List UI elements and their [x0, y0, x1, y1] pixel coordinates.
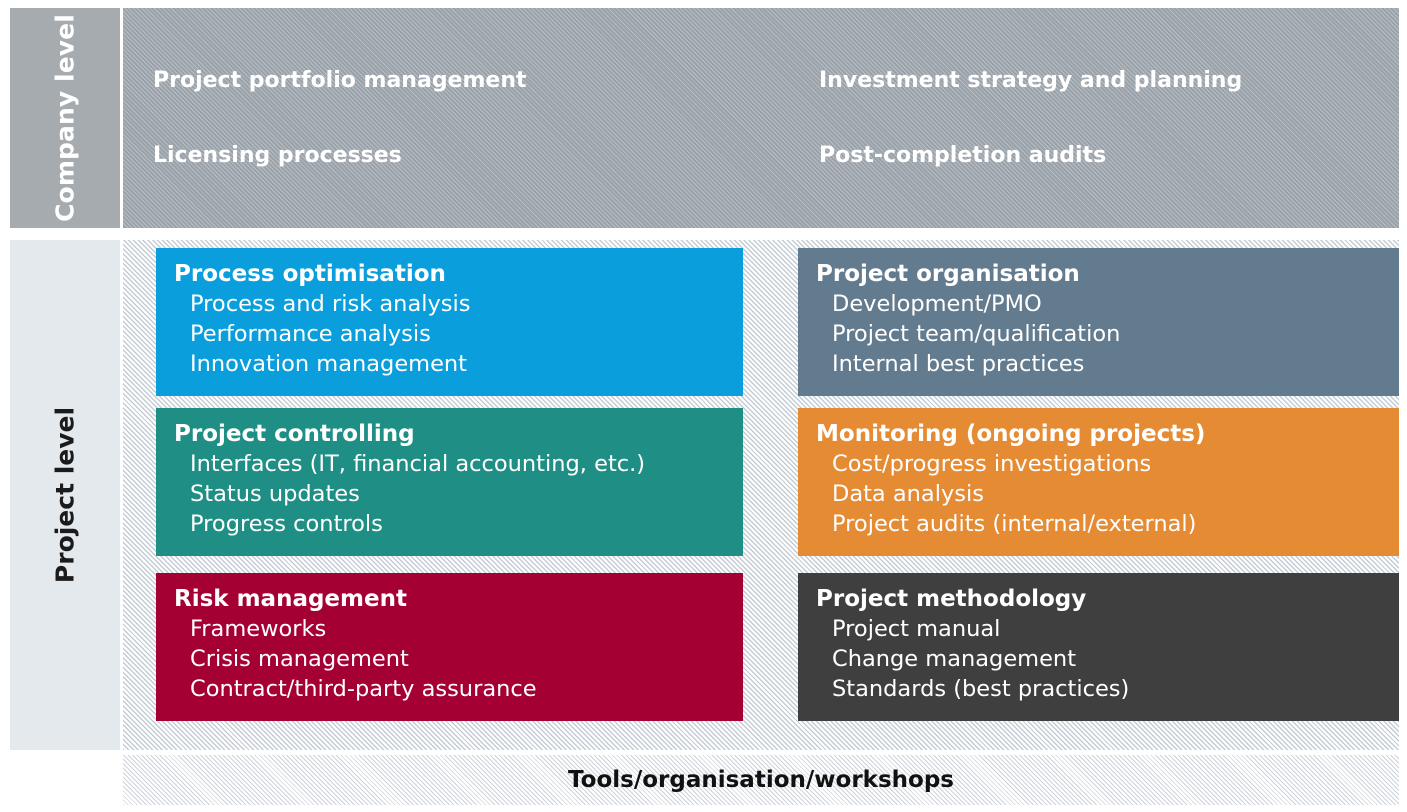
company-level-side-label-panel: Company level: [10, 8, 120, 228]
card-title: Monitoring (ongoing projects): [816, 420, 1383, 449]
card-list-item: Data analysis: [832, 479, 1383, 509]
card-process-optimisation[interactable]: Process optimisation Process and risk an…: [156, 248, 743, 396]
card-item-list: Process and risk analysis Performance an…: [174, 289, 727, 379]
card-list-item: Status updates: [190, 479, 727, 509]
card-risk-management[interactable]: Risk management Frameworks Crisis manage…: [156, 573, 743, 721]
card-item-list: Project manual Change management Standar…: [816, 614, 1383, 704]
company-item-post-completion-audits: Post-completion audits: [819, 143, 1106, 168]
company-level-label: Company level: [51, 14, 80, 222]
project-level-side-label-panel: Project level: [10, 240, 120, 750]
card-list-item: Standards (best practices): [832, 674, 1383, 704]
card-item-list: Development/PMO Project team/qualificati…: [816, 289, 1383, 379]
card-list-item: Project manual: [832, 614, 1383, 644]
card-title: Project organisation: [816, 260, 1383, 289]
card-list-item: Frameworks: [190, 614, 727, 644]
card-title: Risk management: [174, 585, 727, 614]
card-item-list: Frameworks Crisis management Contract/th…: [174, 614, 727, 704]
card-list-item: Development/PMO: [832, 289, 1383, 319]
card-list-item: Contract/third-party assurance: [190, 674, 727, 704]
card-project-methodology[interactable]: Project methodology Project manual Chang…: [798, 573, 1399, 721]
card-list-item: Performance analysis: [190, 319, 727, 349]
footer-label: Tools/organisation/workshops: [568, 767, 954, 793]
card-list-item: Change management: [832, 644, 1383, 674]
card-item-list: Cost/progress investigations Data analys…: [816, 449, 1383, 539]
card-list-item: Process and risk analysis: [190, 289, 727, 319]
card-title: Process optimisation: [174, 260, 727, 289]
card-project-controlling[interactable]: Project controlling Interfaces (IT, fina…: [156, 408, 743, 556]
diagram-root: Company level Project portfolio manageme…: [0, 0, 1407, 812]
card-list-item: Progress controls: [190, 509, 727, 539]
card-list-item: Crisis management: [190, 644, 727, 674]
card-item-list: Interfaces (IT, financial accounting, et…: [174, 449, 727, 539]
card-list-item: Internal best practices: [832, 349, 1383, 379]
company-item-project-portfolio-management: Project portfolio management: [153, 68, 527, 93]
company-level-band: Project portfolio management Licensing p…: [123, 8, 1399, 228]
card-project-organisation[interactable]: Project organisation Development/PMO Pro…: [798, 248, 1399, 396]
card-list-item: Innovation management: [190, 349, 727, 379]
project-level-row: Project level Process optimisation Proce…: [10, 240, 1399, 750]
company-level-column-left: Project portfolio management Licensing p…: [153, 8, 793, 228]
card-list-item: Interfaces (IT, financial accounting, et…: [190, 449, 727, 479]
card-monitoring-ongoing-projects[interactable]: Monitoring (ongoing projects) Cost/progr…: [798, 408, 1399, 556]
card-title: Project methodology: [816, 585, 1383, 614]
card-list-item: Project team/qualification: [832, 319, 1383, 349]
card-list-item: Cost/progress investigations: [832, 449, 1383, 479]
project-level-canvas: Process optimisation Process and risk an…: [123, 240, 1399, 750]
card-title: Project controlling: [174, 420, 727, 449]
company-item-investment-strategy-and-planning: Investment strategy and planning: [819, 68, 1242, 93]
project-level-label: Project level: [51, 407, 80, 583]
card-list-item: Project audits (internal/external): [832, 509, 1383, 539]
company-level-column-right: Investment strategy and planning Post-co…: [819, 8, 1379, 228]
footer-band: Tools/organisation/workshops: [123, 755, 1399, 805]
company-level-row: Company level Project portfolio manageme…: [10, 8, 1399, 228]
company-item-licensing-processes: Licensing processes: [153, 143, 402, 168]
